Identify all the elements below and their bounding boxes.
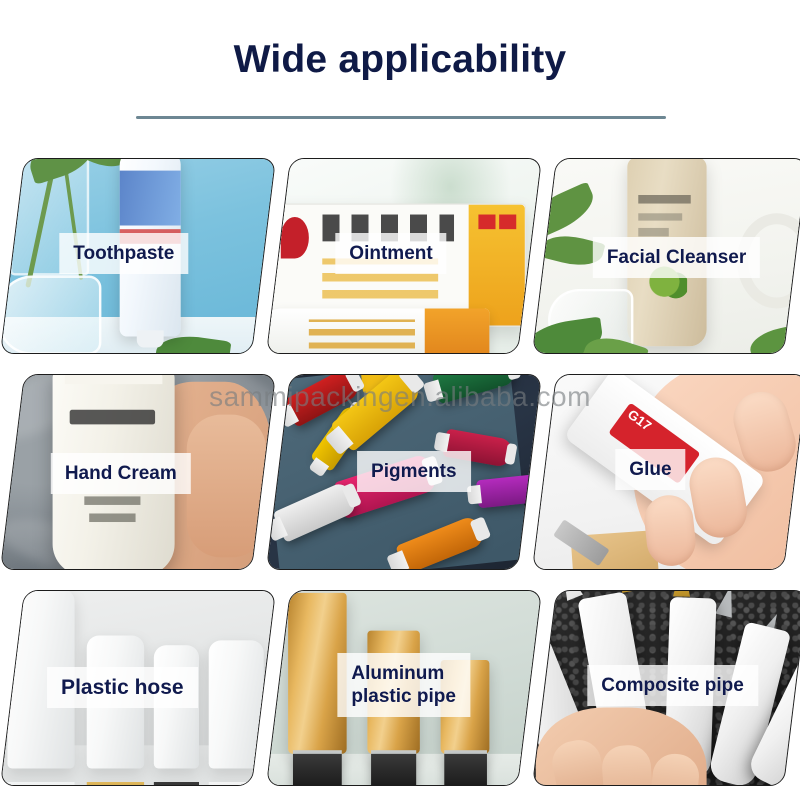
card-label-glue: Glue xyxy=(615,449,685,490)
card-label-pigments: Pigments xyxy=(357,451,471,492)
card-label-toothpaste: Toothpaste xyxy=(59,233,188,274)
title-divider xyxy=(136,116,666,119)
application-card-toothpaste[interactable]: Toothpaste xyxy=(0,158,276,354)
application-card-aluminum-plastic-pipe[interactable]: Aluminum plastic pipe xyxy=(266,590,542,786)
card-label-plastic-hose: Plastic hose xyxy=(47,667,198,708)
application-card-hand-cream[interactable]: Hand Cream xyxy=(0,374,276,570)
application-card-composite-pipe[interactable]: Composite pipe xyxy=(532,590,800,786)
card-label-composite-pipe: Composite pipe xyxy=(587,665,758,706)
card-label-hand-cream: Hand Cream xyxy=(51,453,191,494)
application-card-plastic-hose[interactable]: Plastic hose xyxy=(0,590,276,786)
card-label-ointment: Ointment xyxy=(335,233,446,274)
card-label-facial-cleanser: Facial Cleanser xyxy=(593,237,760,278)
grid-row-2: Hand Cream xyxy=(0,368,800,576)
grid-row-1: Toothpaste Ointment xyxy=(0,152,800,360)
grid-row-3: Plastic hose Aluminum plastic pipe xyxy=(0,584,800,792)
card-label-aluminum-plastic-pipe: Aluminum plastic pipe xyxy=(337,653,470,717)
page-title: Wide applicability xyxy=(0,38,800,82)
application-card-pigments[interactable]: Pigments xyxy=(266,374,542,570)
application-card-facial-cleanser[interactable]: Facial Cleanser xyxy=(532,158,800,354)
application-card-ointment[interactable]: Ointment xyxy=(266,158,542,354)
application-card-glue[interactable]: Glue xyxy=(532,374,800,570)
applications-grid: Toothpaste Ointment xyxy=(0,152,800,800)
wide-applicability-page: Wide applicability Toothpaste xyxy=(0,0,800,800)
page-header: Wide applicability xyxy=(0,0,800,140)
